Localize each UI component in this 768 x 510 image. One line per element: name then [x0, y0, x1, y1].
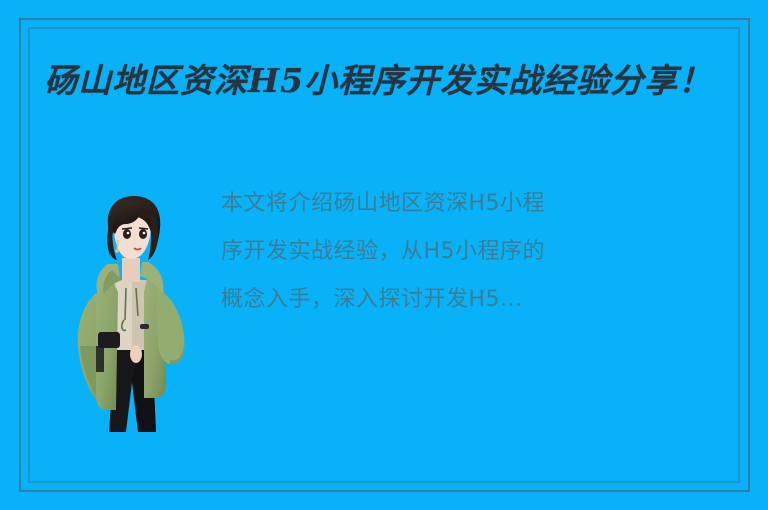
- anime-girl-svg: [52, 196, 204, 448]
- drawstring-left: [125, 288, 126, 320]
- poster-canvas: 砀山地区资深H5小程序开发实战经验分享！ 本文将介绍砀山地区资深H5小程序开发实…: [0, 0, 768, 510]
- jacket-tab: [140, 324, 149, 329]
- poster-body-text: 本文将介绍砀山地区资深H5小程序开发实战经验，从H5小程序的概念入手，深入探讨开…: [221, 180, 551, 324]
- eye-left: [123, 229, 131, 239]
- neck: [122, 258, 140, 282]
- eye-right: [139, 229, 147, 239]
- hand: [130, 345, 142, 363]
- jacket-pocket-dark: [98, 332, 120, 348]
- poster-title: 砀山地区资深H5小程序开发实战经验分享！: [44, 57, 734, 105]
- anime-girl-illustration: [52, 196, 204, 448]
- earring: [117, 240, 118, 250]
